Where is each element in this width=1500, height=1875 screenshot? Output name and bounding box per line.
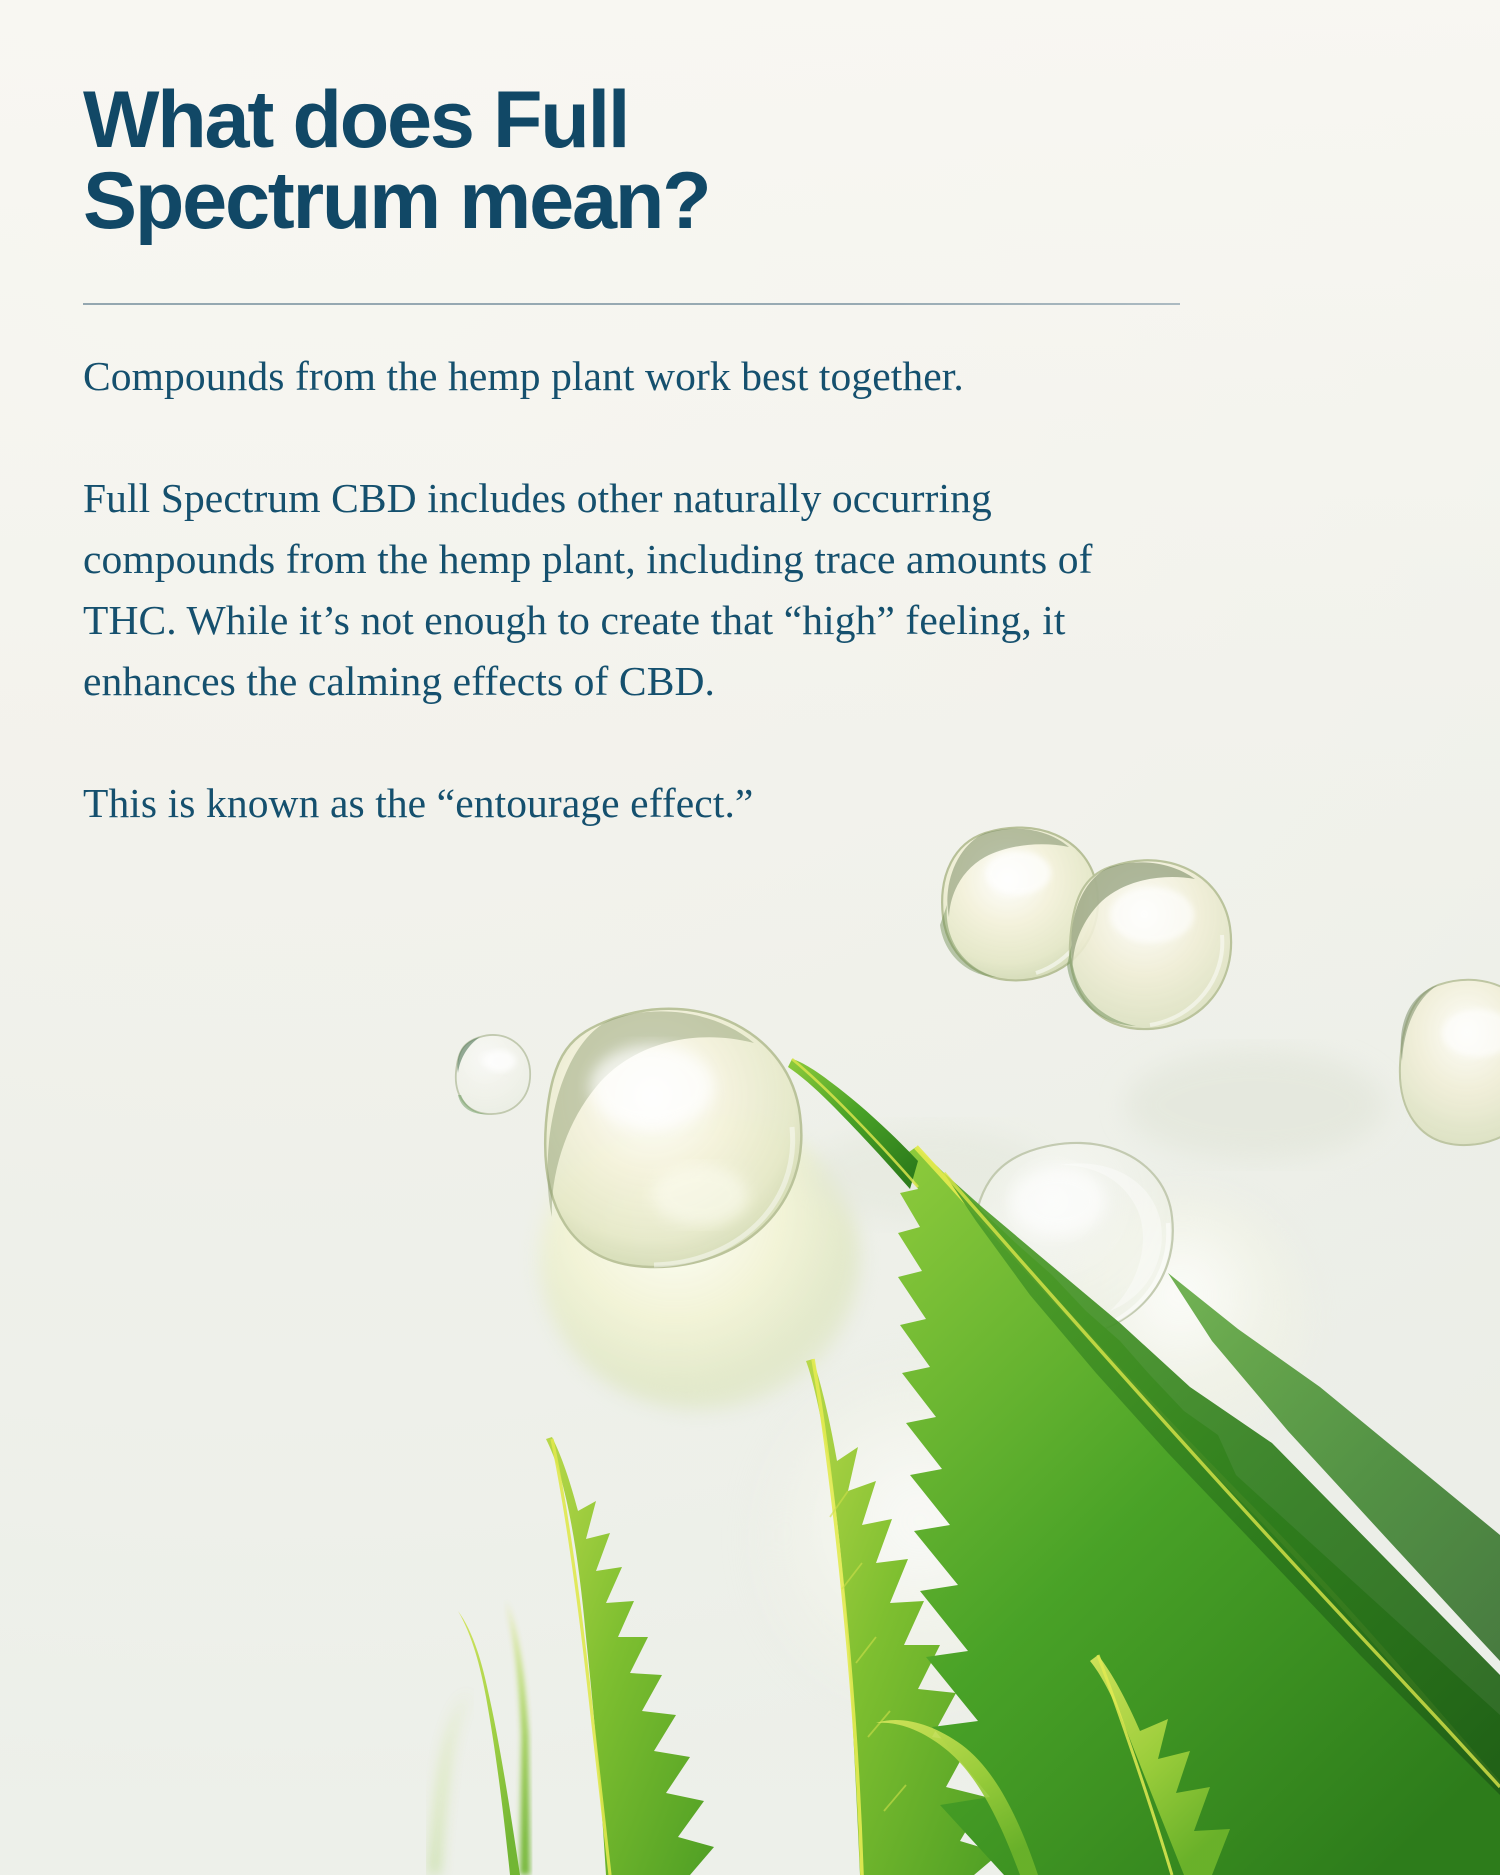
droplet-right-edge <box>1400 980 1500 1145</box>
leaf-blade-far-left <box>458 1611 520 1875</box>
paragraph-entourage: This is known as the “entourage effect.” <box>83 773 1193 834</box>
content-column: What does Full Spectrum mean? Compounds … <box>83 0 1193 834</box>
blurred-droplet-center <box>770 1380 1070 1700</box>
leaf-center-left <box>546 1437 714 1875</box>
hemp-leaf-photograph <box>0 775 1500 1875</box>
leaf-curved-blade <box>876 1720 1038 1875</box>
paragraph-intro: Compounds from the hemp plant work best … <box>83 346 1193 407</box>
leaf-center-main <box>806 1359 1000 1875</box>
droplet-on-leaf <box>972 1143 1173 1337</box>
droplet-upper-right <box>1067 860 1231 1029</box>
leaf-lower-right <box>1090 1655 1230 1875</box>
leaf-background-hint <box>430 1693 470 1875</box>
page-canvas: What does Full Spectrum mean? Compounds … <box>0 0 1500 1875</box>
leaf-back-pale-left <box>506 1601 530 1875</box>
paragraph-definition: Full Spectrum CBD includes other natural… <box>83 468 1193 712</box>
droplet-shadow <box>1125 1050 1385 1160</box>
leaf-right-large <box>898 1147 1500 1875</box>
droplet-upper-left <box>940 828 1098 981</box>
page-title: What does Full Spectrum mean? <box>83 0 1193 241</box>
droplet-small-left <box>456 1035 530 1114</box>
blurred-droplet-right <box>1065 1195 1305 1445</box>
droplet-large-left <box>545 1009 801 1267</box>
body-copy: Compounds from the hemp plant work best … <box>83 346 1193 834</box>
blurred-droplet-large-left <box>540 1110 860 1410</box>
divider-rule <box>83 303 1180 305</box>
leaf-right-tip-blade <box>788 1059 918 1189</box>
